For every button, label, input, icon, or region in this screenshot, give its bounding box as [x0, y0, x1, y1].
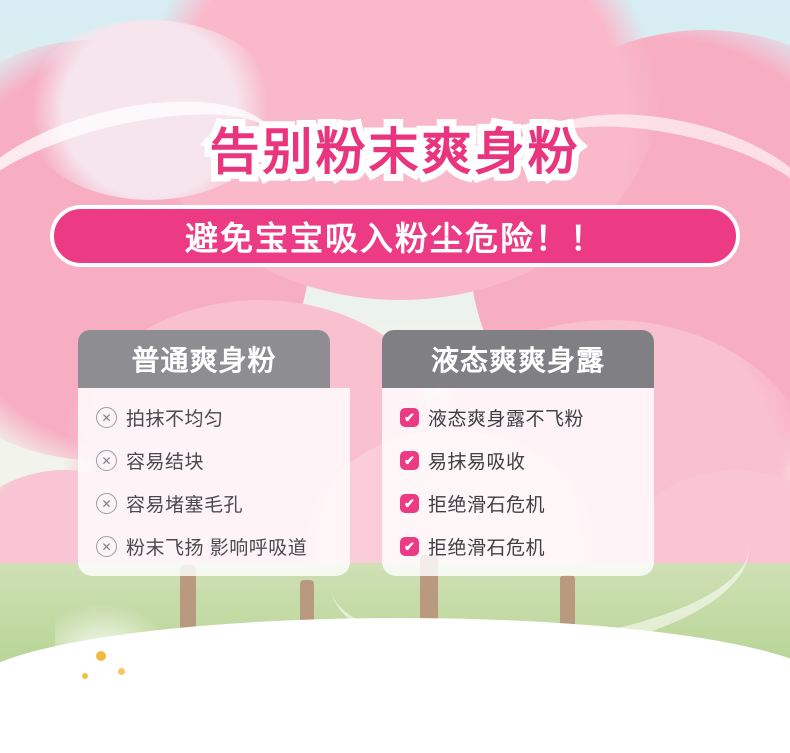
card-ordinary-powder-title: 普通爽身粉 [131, 339, 276, 379]
list-item: ✕ 容易结块 [96, 447, 336, 474]
check-icon: ✔ [400, 451, 419, 470]
list-item-label: 拍抹不均匀 [126, 404, 224, 431]
list-item-label: 容易堵塞毛孔 [126, 490, 243, 517]
card-ordinary-powder: 普通爽身粉 ✕ 拍抹不均匀 ✕ 容易结块 ✕ 容易堵塞毛孔 [78, 330, 350, 576]
card-ordinary-powder-header: 普通爽身粉 [78, 330, 330, 388]
list-item-label: 易抹易吸收 [428, 447, 526, 474]
list-item-label: 拒绝滑石危机 [428, 533, 545, 560]
cross-icon: ✕ [96, 493, 117, 514]
check-icon: ✔ [400, 494, 419, 513]
card-liquid-lotion-body: ✔ 液态爽身露不飞粉 ✔ 易抹易吸收 ✔ 拒绝滑石危机 ✔ 拒绝滑石危机 [382, 388, 654, 576]
check-icon: ✔ [400, 408, 419, 427]
card-liquid-lotion-header: 液态爽爽身露 [382, 330, 654, 388]
list-item: ✕ 容易堵塞毛孔 [96, 490, 336, 517]
list-item-label: 容易结块 [126, 447, 204, 474]
card-ordinary-powder-body: ✕ 拍抹不均匀 ✕ 容易结块 ✕ 容易堵塞毛孔 ✕ 粉末飞扬 影响呼吸道 [78, 388, 350, 576]
cross-icon: ✕ [96, 450, 117, 471]
subtitle-banner-text: 避免宝宝吸入粉尘危险！！ [185, 212, 605, 260]
headline: 告别粉末爽身粉 [0, 112, 790, 184]
list-item: ✔ 拒绝滑石危机 [400, 490, 640, 517]
list-item: ✕ 拍抹不均匀 [96, 404, 336, 431]
subtitle-banner: 避免宝宝吸入粉尘危险！！ [50, 205, 740, 267]
cross-icon: ✕ [96, 407, 117, 428]
list-item: ✕ 粉末飞扬 影响呼吸道 [96, 533, 336, 560]
promo-poster: 告别粉末爽身粉 告别粉末爽身粉 避免宝宝吸入粉尘危险！！ 普通爽身粉 ✕ 拍抹不… [0, 0, 790, 753]
list-item: ✔ 拒绝滑石危机 [400, 533, 640, 560]
list-item-label: 粉末飞扬 影响呼吸道 [126, 533, 307, 560]
list-item-label: 液态爽身露不飞粉 [428, 404, 584, 431]
poster-content: 告别粉末爽身粉 告别粉末爽身粉 避免宝宝吸入粉尘危险！！ 普通爽身粉 ✕ 拍抹不… [0, 0, 790, 753]
list-item-label: 拒绝滑石危机 [428, 490, 545, 517]
card-liquid-lotion: 液态爽爽身露 ✔ 液态爽身露不飞粉 ✔ 易抹易吸收 ✔ 拒绝滑石危机 [382, 330, 654, 576]
comparison-cards: 普通爽身粉 ✕ 拍抹不均匀 ✕ 容易结块 ✕ 容易堵塞毛孔 [78, 330, 718, 576]
cross-icon: ✕ [96, 536, 117, 557]
check-icon: ✔ [400, 537, 419, 556]
list-item: ✔ 液态爽身露不飞粉 [400, 404, 640, 431]
list-item: ✔ 易抹易吸收 [400, 447, 640, 474]
card-liquid-lotion-title: 液态爽爽身露 [431, 339, 605, 379]
